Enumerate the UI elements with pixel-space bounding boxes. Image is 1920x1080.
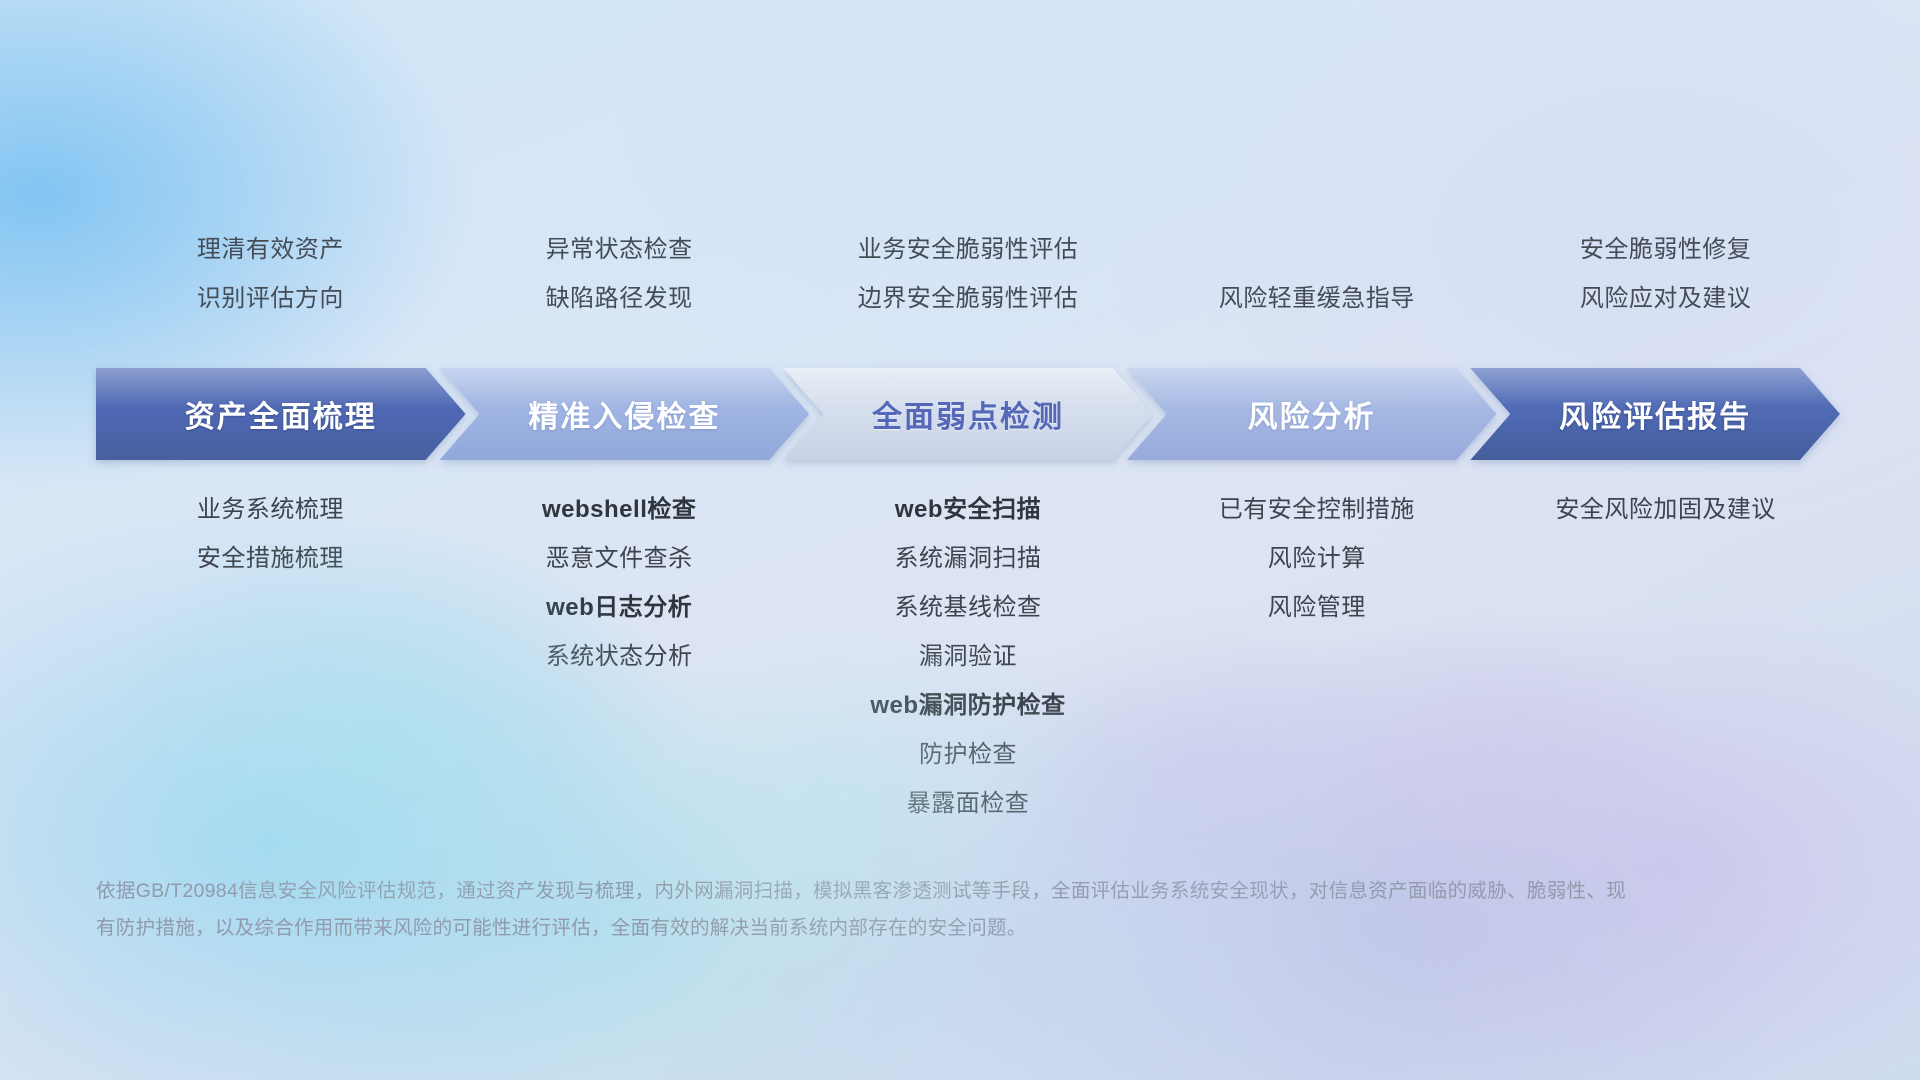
outcome-item: 异常状态检查 [445, 225, 794, 274]
activity-item: web安全扫描 [794, 485, 1143, 534]
activities-row: 业务系统梳理 安全措施梳理 webshell检查 恶意文件查杀 web日志分析 … [96, 485, 1840, 828]
activity-item: 已有安全控制措施 [1142, 485, 1491, 534]
activity-item: 风险计算 [1142, 534, 1491, 583]
activity-column-1: 业务系统梳理 安全措施梳理 [96, 485, 445, 583]
chevron-label: 风险评估报告 [1559, 392, 1751, 436]
outcomes-row: 理清有效资产 识别评估方向 异常状态检查 缺陷路径发现 业务安全脆弱性评估 边界… [96, 225, 1840, 323]
chevron-stage-5[interactable]: 风险评估报告 [1470, 368, 1840, 460]
chevron-label: 风险分析 [1248, 392, 1376, 436]
activity-column-3: web安全扫描 系统漏洞扫描 系统基线检查 漏洞验证 web漏洞防护检查 防护检… [794, 485, 1143, 828]
outcome-column-5: 安全脆弱性修复 风险应对及建议 [1491, 225, 1840, 323]
outcome-column-2: 异常状态检查 缺陷路径发现 [445, 225, 794, 323]
outcome-column-3: 业务安全脆弱性评估 边界安全脆弱性评估 [794, 225, 1143, 323]
outcome-column-1: 理清有效资产 识别评估方向 [96, 225, 445, 323]
activity-item: 暴露面检查 [794, 779, 1143, 828]
activity-item: 漏洞验证 [794, 632, 1143, 681]
activity-item: 系统基线检查 [794, 583, 1143, 632]
activity-item: 恶意文件查杀 [445, 534, 794, 583]
outcome-item: 理清有效资产 [96, 225, 445, 274]
activity-item: web漏洞防护检查 [794, 681, 1143, 730]
activity-item: 系统漏洞扫描 [794, 534, 1143, 583]
outcome-item: 边界安全脆弱性评估 [794, 274, 1143, 323]
footer-description: 依据GB/T20984信息安全风险评估规范，通过资产发现与梳理，内外网漏洞扫描，… [96, 873, 1626, 947]
chevron-stage-2[interactable]: 精准入侵检查 [440, 368, 810, 460]
process-chevron-banner: 资产全面梳理 精准入侵检查 全面弱点检测 风险分析 风险评估报告 [96, 368, 1840, 460]
diagram-canvas: 理清有效资产 识别评估方向 异常状态检查 缺陷路径发现 业务安全脆弱性评估 边界… [0, 0, 1920, 1080]
outcome-item: 缺陷路径发现 [445, 274, 794, 323]
activity-item: 防护检查 [794, 730, 1143, 779]
outcome-item: 识别评估方向 [96, 274, 445, 323]
outcome-item: 业务安全脆弱性评估 [794, 225, 1143, 274]
chevron-label: 全面弱点检测 [872, 392, 1064, 436]
activity-column-4: 已有安全控制措施 风险计算 风险管理 [1142, 485, 1491, 632]
chevron-label: 资产全面梳理 [185, 392, 377, 436]
activity-item: 安全措施梳理 [96, 534, 445, 583]
activity-item: 安全风险加固及建议 [1491, 485, 1840, 534]
activity-item: 业务系统梳理 [96, 485, 445, 534]
chevron-stage-1[interactable]: 资产全面梳理 [96, 368, 466, 460]
activity-column-5: 安全风险加固及建议 [1491, 485, 1840, 534]
activity-item: 系统状态分析 [445, 632, 794, 681]
outcome-item: 风险轻重缓急指导 [1142, 274, 1491, 323]
activity-item: 风险管理 [1142, 583, 1491, 632]
activity-item: webshell检查 [445, 485, 794, 534]
outcome-column-4: 风险轻重缓急指导 [1142, 225, 1491, 323]
chevron-stage-4[interactable]: 风险分析 [1127, 368, 1497, 460]
activity-item: web日志分析 [445, 583, 794, 632]
activity-column-2: webshell检查 恶意文件查杀 web日志分析 系统状态分析 [445, 485, 794, 681]
outcome-item: 安全脆弱性修复 [1491, 225, 1840, 274]
chevron-stage-3[interactable]: 全面弱点检测 [783, 368, 1153, 460]
outcome-item: 风险应对及建议 [1491, 274, 1840, 323]
chevron-label: 精准入侵检查 [528, 392, 720, 436]
